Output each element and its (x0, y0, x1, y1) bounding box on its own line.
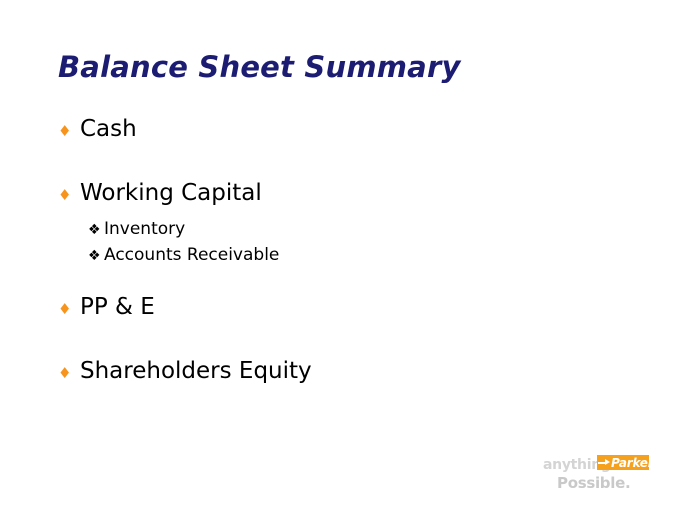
arrow-icon (598, 459, 611, 466)
list-item: ❖ Accounts Receivable (0, 242, 680, 268)
list-item-label: Working Capital (80, 176, 262, 210)
floret-bullet-icon: ❖ (88, 223, 104, 237)
list-item-label: Inventory (104, 216, 185, 242)
list-item-label: Cash (80, 112, 137, 146)
floret-bullet-icon: ❖ (88, 249, 104, 263)
list-item-label: Accounts Receivable (104, 242, 279, 268)
presentation-slide: Balance Sheet Summary ♦ Cash ♦ Working C… (0, 0, 680, 525)
diamond-bullet-icon: ♦ (58, 188, 80, 203)
list-item: ♦ PP & E (0, 290, 680, 324)
list-item: ♦ Shareholders Equity (0, 354, 680, 388)
spacer (0, 324, 680, 354)
list-item: ❖ Inventory (0, 216, 680, 242)
logo-brand-badge: Parker (597, 455, 649, 470)
spacer (0, 268, 680, 290)
list-item-label: PP & E (80, 290, 155, 324)
diamond-bullet-icon: ♦ (58, 302, 80, 317)
logo-top-row: anything Parker (543, 455, 649, 472)
parker-logo: anything Parker Possible. (543, 455, 649, 491)
spacer (0, 146, 680, 176)
diamond-bullet-icon: ♦ (58, 366, 80, 381)
logo-brand-name: Parker (611, 457, 649, 469)
logo-tagline-bottom: Possible. (557, 474, 630, 492)
page-title: Balance Sheet Summary (58, 50, 461, 84)
logo-bottom-row: Possible. (543, 473, 649, 492)
list-item: ♦ Cash (0, 112, 680, 146)
list-item: ♦ Working Capital (0, 176, 680, 210)
list-item-label: Shareholders Equity (80, 354, 312, 388)
bullet-list: ♦ Cash ♦ Working Capital ❖ Inventory ❖ A… (0, 112, 680, 388)
diamond-bullet-icon: ♦ (58, 124, 80, 139)
